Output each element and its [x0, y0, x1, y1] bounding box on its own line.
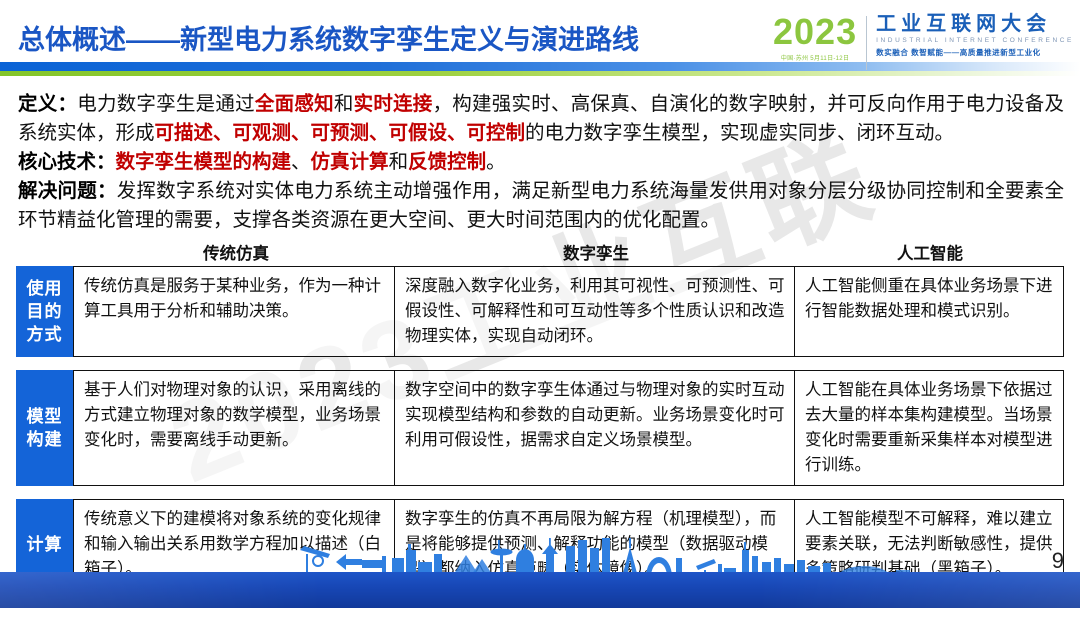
header-rule-green: [0, 71, 1080, 76]
logo-english-name: INDUSTRIAL INTERNET CONFERENCE: [876, 37, 1074, 44]
core-tech-highlight-3: 反馈控制: [408, 151, 486, 173]
slide-footer: [0, 560, 1080, 608]
column-header-traditional-simulation: 传统仿真: [76, 240, 396, 266]
cell-artificial-intelligence: 人工智能侧重在具体业务场景下进行智能数据处理和模式识别。: [795, 267, 1063, 356]
table-row-cells: 基于人们对物理对象的认识，采用离线的方式建立物理对象的数学模型，业务场景变化时，…: [73, 370, 1064, 486]
table-row: 使用 目的 方式 传统仿真是服务于某种业务，作为一种计算工具用于分析和辅助决策。…: [16, 266, 1064, 357]
definition-part2: 和: [334, 93, 354, 115]
definition-label: 定义：: [18, 93, 77, 115]
cell-digital-twin: 深度融入数字化业务，利用其可视性、可预测性、可假设性、可解释性和可互动性等多个性…: [395, 267, 795, 356]
row-label-usage-purpose: 使用 目的 方式: [16, 266, 73, 357]
core-tech-part3: 。: [486, 151, 506, 173]
footer-band: [0, 572, 1080, 608]
core-tech-part1: 、: [291, 151, 311, 173]
problem-label: 解决问题：: [18, 180, 117, 202]
definition-highlight-1: 全面感知: [255, 93, 334, 115]
logo-year: 2023: [773, 14, 857, 50]
intro-text-block: 定义：电力数字孪生是通过全面感知和实时连接，构建强实时、高保真、自演化的数字映射…: [18, 90, 1064, 235]
conference-logo: 2023 中国·苏州 5月11日-12日 工业互联网大会 INDUSTRIAL …: [773, 14, 1074, 70]
row-label-line: 模型: [27, 405, 63, 428]
row-label-line: 构建: [27, 428, 63, 451]
logo-name-block: 工业互联网大会 INDUSTRIAL INTERNET CONFERENCE 数…: [876, 14, 1074, 58]
logo-year-block: 2023 中国·苏州 5月11日-12日: [773, 14, 857, 62]
cell-traditional-simulation: 基于人们对物理对象的认识，采用离线的方式建立物理对象的数学模型，业务场景变化时，…: [74, 371, 395, 485]
cell-digital-twin: 数字空间中的数字孪生体通过与物理对象的实时互动实现模型结构和参数的自动更新。业务…: [395, 371, 795, 485]
row-label-line: 使用: [27, 277, 63, 300]
definition-part4: 的电力数字孪生模型，实现虚实同步、闭环互动。: [525, 122, 954, 144]
header-spacer: [16, 240, 76, 266]
table-row-cells: 传统仿真是服务于某种业务，作为一种计算工具用于分析和辅助决策。 深度融入数字化业…: [73, 266, 1064, 357]
row-label-line: 目的: [27, 300, 63, 323]
definition-highlight-2: 实时连接: [354, 93, 433, 115]
cell-artificial-intelligence: 人工智能在具体业务场景下依据过去大量的样本集构建模型。当场景变化时需要重新采集样…: [795, 371, 1063, 485]
logo-slogan: 数实融合 数智赋能——高质量推进新型工业化: [876, 47, 1074, 58]
page-title: 总体概述——新型电力系统数字孪生定义与演进路线: [18, 18, 639, 57]
row-label-line: 方式: [27, 323, 63, 346]
definition-highlight-3: 可描述、可观测、可预测、可假设、可控制: [155, 122, 526, 144]
column-header-digital-twin: 数字孪生: [396, 240, 796, 266]
problem-paragraph: 解决问题：发挥数字系统对实体电力系统主动增强作用，满足新型电力系统海量发供用对象…: [18, 177, 1064, 235]
table-row: 模型 构建 基于人们对物理对象的认识，采用离线的方式建立物理对象的数学模型，业务…: [16, 370, 1064, 486]
core-tech-highlight-1: 数字孪生模型的构建: [116, 151, 292, 173]
table-column-headers: 传统仿真 数字孪生 人工智能: [16, 240, 1064, 266]
problem-text: 发挥数字系统对实体电力系统主动增强作用，满足新型电力系统海量发供用对象分层分级协…: [18, 180, 1064, 231]
logo-chinese-name: 工业互联网大会: [876, 14, 1074, 34]
core-tech-highlight-2: 仿真计算: [311, 151, 389, 173]
definition-part1: 电力数字孪生是通过: [77, 93, 255, 115]
core-tech-paragraph: 核心技术：数字孪生模型的构建、仿真计算和反馈控制。: [18, 148, 1064, 177]
core-tech-part2: 和: [389, 151, 409, 173]
logo-year-subtitle: 中国·苏州 5月11日-12日: [773, 53, 857, 62]
cell-traditional-simulation: 传统仿真是服务于某种业务，作为一种计算工具用于分析和辅助决策。: [74, 267, 395, 356]
row-label-model-construction: 模型 构建: [16, 370, 73, 486]
slide-header: 总体概述——新型电力系统数字孪生定义与演进路线 2023 中国·苏州 5月11日…: [0, 0, 1080, 88]
column-header-artificial-intelligence: 人工智能: [796, 240, 1064, 266]
definition-paragraph: 定义：电力数字孪生是通过全面感知和实时连接，构建强实时、高保真、自演化的数字映射…: [18, 90, 1064, 148]
core-tech-label: 核心技术：: [18, 151, 116, 173]
logo-divider: [866, 16, 867, 70]
